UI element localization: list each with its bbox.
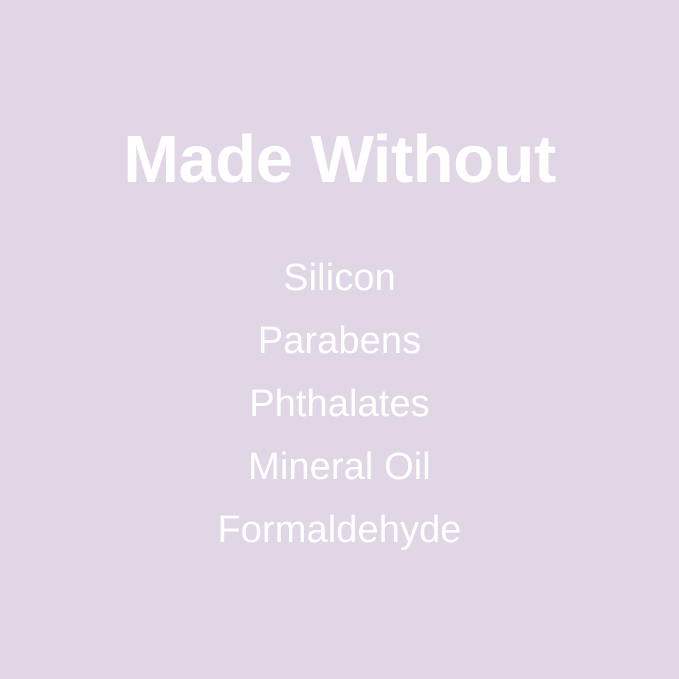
list-item-label: Formaldehyde (217, 511, 461, 549)
list-item-label: Parabens (258, 322, 421, 360)
list-item: Mineral Oil (0, 435, 679, 498)
list-item-label: Phthalates (249, 385, 430, 423)
list-item: Phthalates (0, 372, 679, 435)
list-item-label: Silicon (283, 259, 396, 297)
excluded-ingredients-list: Silicon Parabens Phthalates Mineral Oil … (0, 246, 679, 561)
poster-heading-block: Made Without (0, 0, 679, 200)
list-item: Parabens (0, 309, 679, 372)
list-item: Formaldehyde (0, 498, 679, 561)
list-item: Silicon (0, 246, 679, 309)
page-title: Made Without (123, 126, 556, 193)
made-without-poster: Made Without Silicon Parabens Phthalates… (0, 0, 679, 679)
list-item-label: Mineral Oil (248, 448, 431, 486)
